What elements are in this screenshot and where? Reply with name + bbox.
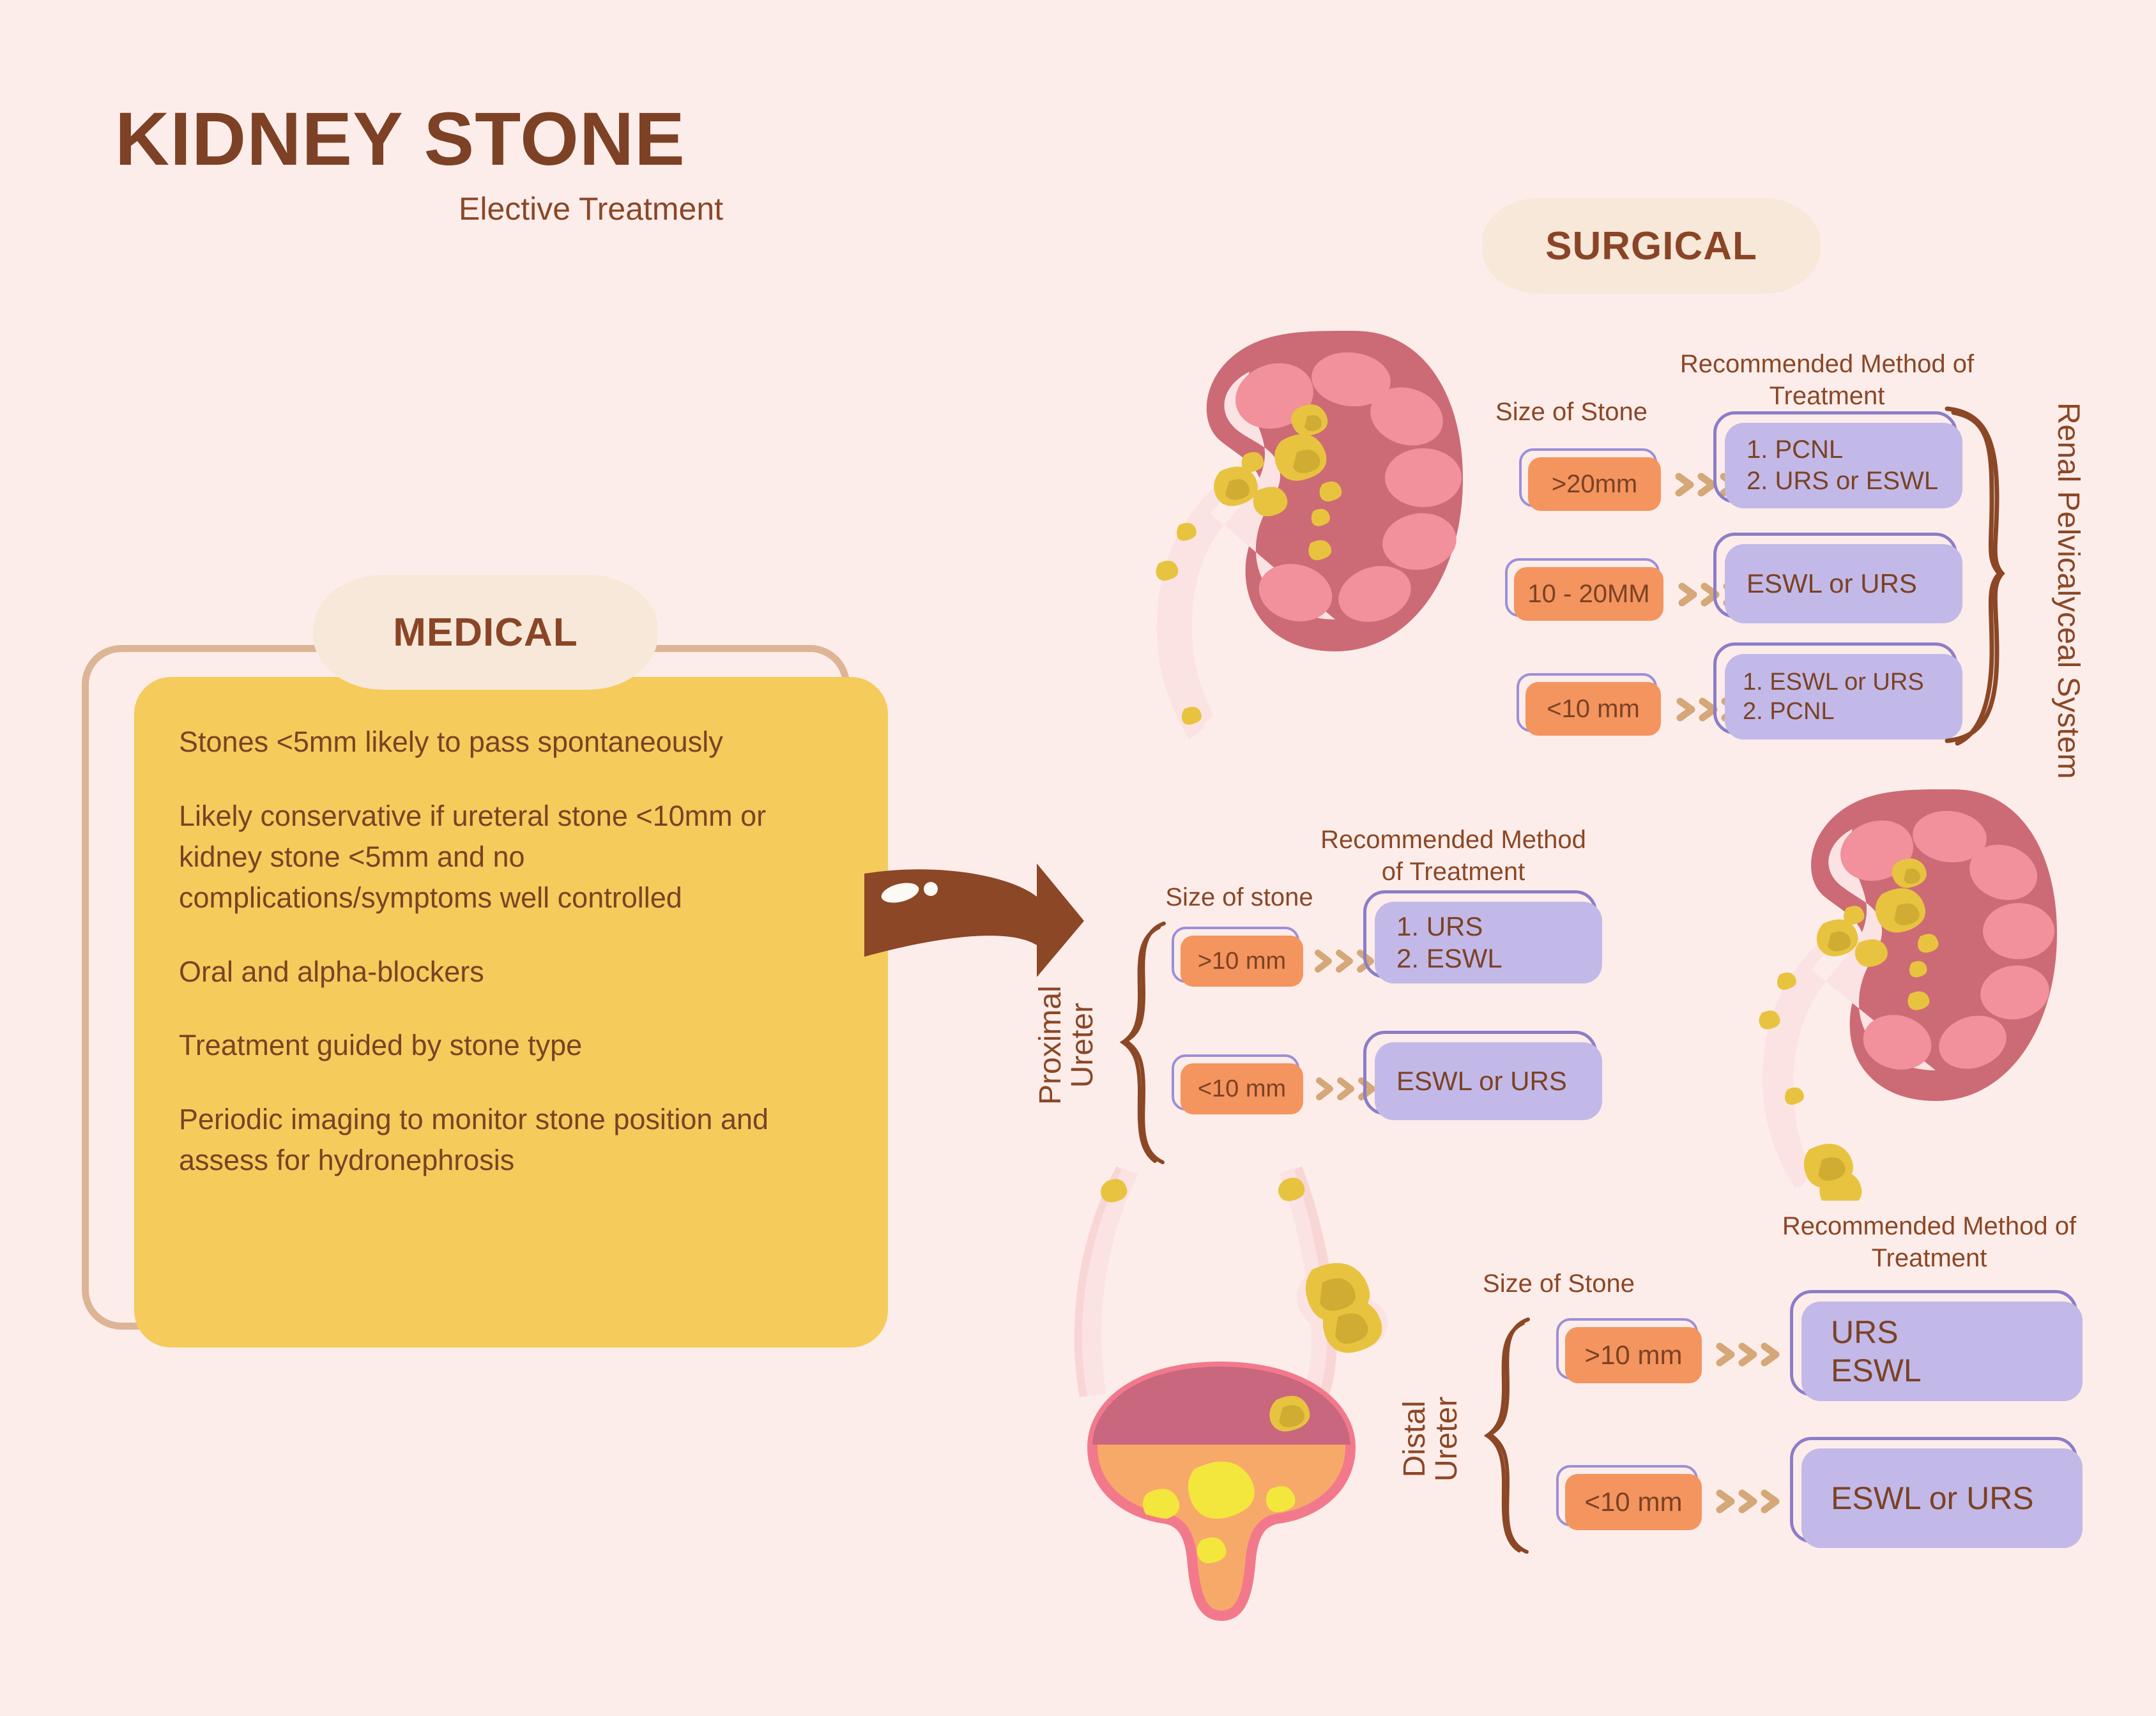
proximal-size-header: Size of stone xyxy=(1150,881,1329,913)
triple-chevron-right-icon xyxy=(1715,1340,1785,1369)
treatment-box-label: 1. PCNL 2. URS or ESWL xyxy=(1725,423,1962,508)
proximal-size-pill: <10 mm xyxy=(1181,1063,1303,1114)
renal-size-pill: <10 mm xyxy=(1525,682,1661,736)
size-pill-label: <10 mm xyxy=(1525,682,1661,736)
treatment-box-label: 1. ESWL or URS 2. PCNL xyxy=(1725,654,1962,740)
proximal-treatment-header: Recommended Method of Treatment xyxy=(1316,824,1591,888)
renal-size-header: Size of Stone xyxy=(1482,396,1661,428)
medical-point: Stones <5mm likely to pass spontaneously xyxy=(179,722,837,763)
kidney-with-stones-icon xyxy=(1750,779,2070,1201)
medical-section-label: MEDICAL xyxy=(313,575,658,690)
renal-treatment-box: 1. PCNL 2. URS or ESWL xyxy=(1725,423,1962,508)
medical-point: Periodic imaging to monitor stone positi… xyxy=(179,1099,837,1181)
kidney-with-stones-icon xyxy=(1143,319,1476,766)
renal-treatment-box: ESWL or URS xyxy=(1725,544,1962,623)
distal-size-pill: <10 mm xyxy=(1565,1474,1702,1530)
proximal-treatment-box: ESWL or URS xyxy=(1375,1042,1602,1120)
renal-treatment-box: 1. ESWL or URS 2. PCNL xyxy=(1725,654,1962,740)
proximal-treatment-box: 1. URS 2. ESWL xyxy=(1375,902,1602,983)
size-pill-label: >10 mm xyxy=(1181,936,1303,987)
curly-brace-icon xyxy=(1936,396,2019,757)
size-pill-label: >10 mm xyxy=(1565,1327,1702,1383)
medical-point: Oral and alpha-blockers xyxy=(179,952,837,992)
treatment-box-label: 1. URS 2. ESWL xyxy=(1375,902,1602,983)
distal-treatment-box: ESWL or URS xyxy=(1801,1448,2083,1548)
page-subtitle: Elective Treatment xyxy=(459,190,723,227)
proximal-size-pill: >10 mm xyxy=(1181,936,1303,987)
infographic-canvas: KIDNEY STONE Elective Treatment SURGICAL… xyxy=(0,0,2156,1716)
renal-size-pill: >20mm xyxy=(1528,457,1661,511)
medical-point: Likely conservative if ureteral stone <1… xyxy=(179,796,837,918)
distal-size-pill: >10 mm xyxy=(1565,1327,1702,1383)
curly-brace-icon xyxy=(1117,918,1174,1171)
distal-size-header: Size of Stone xyxy=(1469,1268,1648,1300)
surgical-section-label: SURGICAL xyxy=(1482,198,1821,294)
flow-arrow-icon xyxy=(859,849,1089,990)
treatment-box-label: ESWL or URS xyxy=(1725,544,1962,623)
triple-chevron-right-icon xyxy=(1715,1487,1785,1516)
medical-points-list: Stones <5mm likely to pass spontaneously… xyxy=(179,722,837,1181)
treatment-box-label: ESWL or URS xyxy=(1801,1448,2083,1548)
size-pill-label: 10 - 20MM xyxy=(1514,567,1663,621)
bladder-with-stones-icon xyxy=(1048,1150,1393,1648)
renal-size-pill: 10 - 20MM xyxy=(1514,567,1663,621)
proximal-group-label: Proximal Ureter xyxy=(1035,985,1099,1105)
renal-group-label: Renal Pelvicalyceal System xyxy=(2052,402,2084,779)
curly-brace-icon xyxy=(1481,1314,1538,1560)
treatment-box-label: ESWL or URS xyxy=(1375,1042,1602,1120)
distal-treatment-header: Recommended Method of Treatment xyxy=(1763,1210,2095,1274)
page-title: KIDNEY STONE xyxy=(115,96,685,183)
medical-point: Treatment guided by stone type xyxy=(179,1025,837,1066)
size-pill-label: <10 mm xyxy=(1181,1063,1303,1114)
distal-treatment-box: URS ESWL xyxy=(1801,1302,2083,1401)
renal-treatment-header: Recommended Method of Treatment xyxy=(1674,348,1980,412)
treatment-box-label: URS ESWL xyxy=(1801,1302,2083,1401)
size-pill-label: <10 mm xyxy=(1565,1474,1702,1530)
distal-group-label: Distal Ureter xyxy=(1399,1397,1464,1482)
size-pill-label: >20mm xyxy=(1528,457,1661,511)
